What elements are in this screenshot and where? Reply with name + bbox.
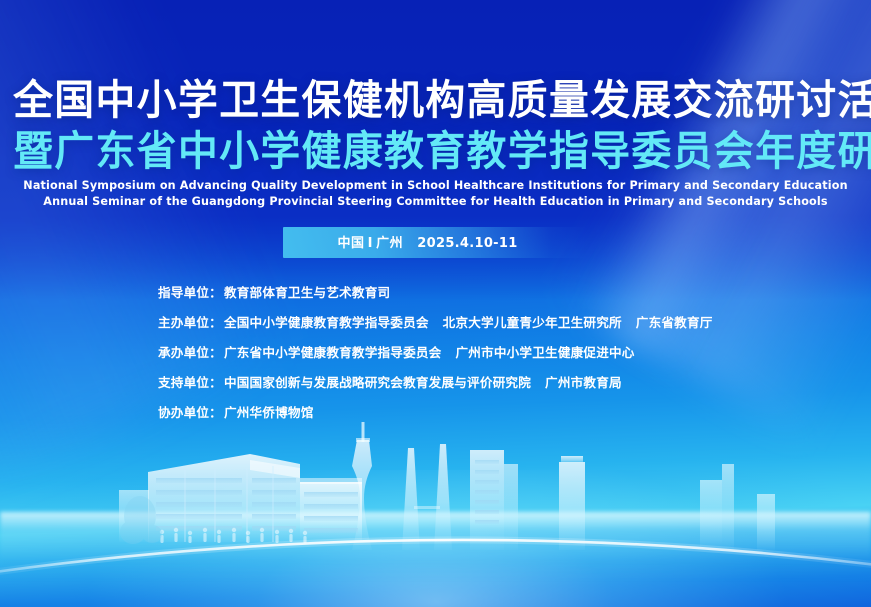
organizer-row: 承办单位：广东省中小学健康教育教学指导委员会广州市中小学卫生健康促进中心	[158, 346, 798, 360]
organizer-row: 主办单位：全国中小学健康教育教学指导委员会北京大学儿童青少年卫生研究所广东省教育…	[158, 316, 798, 330]
poster-content: 全国中小学卫生保健机构高质量发展交流研讨活动 暨广东省中小学健康教育教学指导委员…	[0, 0, 871, 607]
location-date-badge: 中国I广州2025.4.10-11	[283, 227, 587, 258]
poster-subtitle-line-2: Annual Seminar of the Guangdong Provinci…	[4, 194, 866, 210]
organizer-value: 广州华侨博物馆	[224, 405, 314, 420]
organizer-row: 指导单位：教育部体育卫生与艺术教育司	[158, 286, 798, 300]
organizer-value: 中国国家创新与发展战略研究会教育发展与评价研究院	[224, 375, 531, 390]
badge-country: 中国	[337, 236, 364, 251]
organizer-value: 广州市中小学卫生健康促进中心	[455, 345, 634, 360]
organizer-label: 承办单位：	[158, 345, 222, 360]
badge-city: 广州	[376, 236, 403, 251]
organizer-value: 广东省中小学健康教育教学指导委员会	[224, 345, 442, 360]
organizer-label: 指导单位：	[158, 285, 222, 300]
badge-separator: I	[365, 236, 376, 251]
organizer-label: 支持单位：	[158, 375, 222, 390]
poster-title-line-2: 暨广东省中小学健康教育教学指导委员会年度研讨活动	[13, 127, 858, 175]
title-block: 全国中小学卫生保健机构高质量发展交流研讨活动 暨广东省中小学健康教育教学指导委员…	[0, 76, 871, 175]
location-date-badge-wrapper: 中国I广州2025.4.10-11	[0, 227, 871, 258]
organizer-row: 支持单位：中国国家创新与发展战略研究会教育发展与评价研究院广州市教育局	[158, 376, 798, 390]
organizer-value: 广东省教育厅	[636, 315, 713, 330]
subtitle-block: National Symposium on Advancing Quality …	[0, 178, 871, 210]
organizer-value: 北京大学儿童青少年卫生研究所	[443, 315, 622, 330]
poster-subtitle-line-1: National Symposium on Advancing Quality …	[4, 178, 866, 194]
organizer-row: 协办单位：广州华侨博物馆	[158, 406, 798, 420]
organizer-list: 指导单位：教育部体育卫生与艺术教育司 主办单位：全国中小学健康教育教学指导委员会…	[158, 286, 798, 436]
organizer-value: 广州市教育局	[545, 375, 622, 390]
organizer-value: 教育部体育卫生与艺术教育司	[224, 285, 390, 300]
conference-poster: 全国中小学卫生保健机构高质量发展交流研讨活动 暨广东省中小学健康教育教学指导委员…	[0, 0, 871, 607]
badge-date: 2025.4.10-11	[417, 236, 517, 251]
poster-title-line-1: 全国中小学卫生保健机构高质量发展交流研讨活动	[13, 76, 858, 124]
organizer-value: 全国中小学健康教育教学指导委员会	[224, 315, 429, 330]
organizer-label: 主办单位：	[158, 315, 222, 330]
organizer-label: 协办单位：	[158, 405, 222, 420]
